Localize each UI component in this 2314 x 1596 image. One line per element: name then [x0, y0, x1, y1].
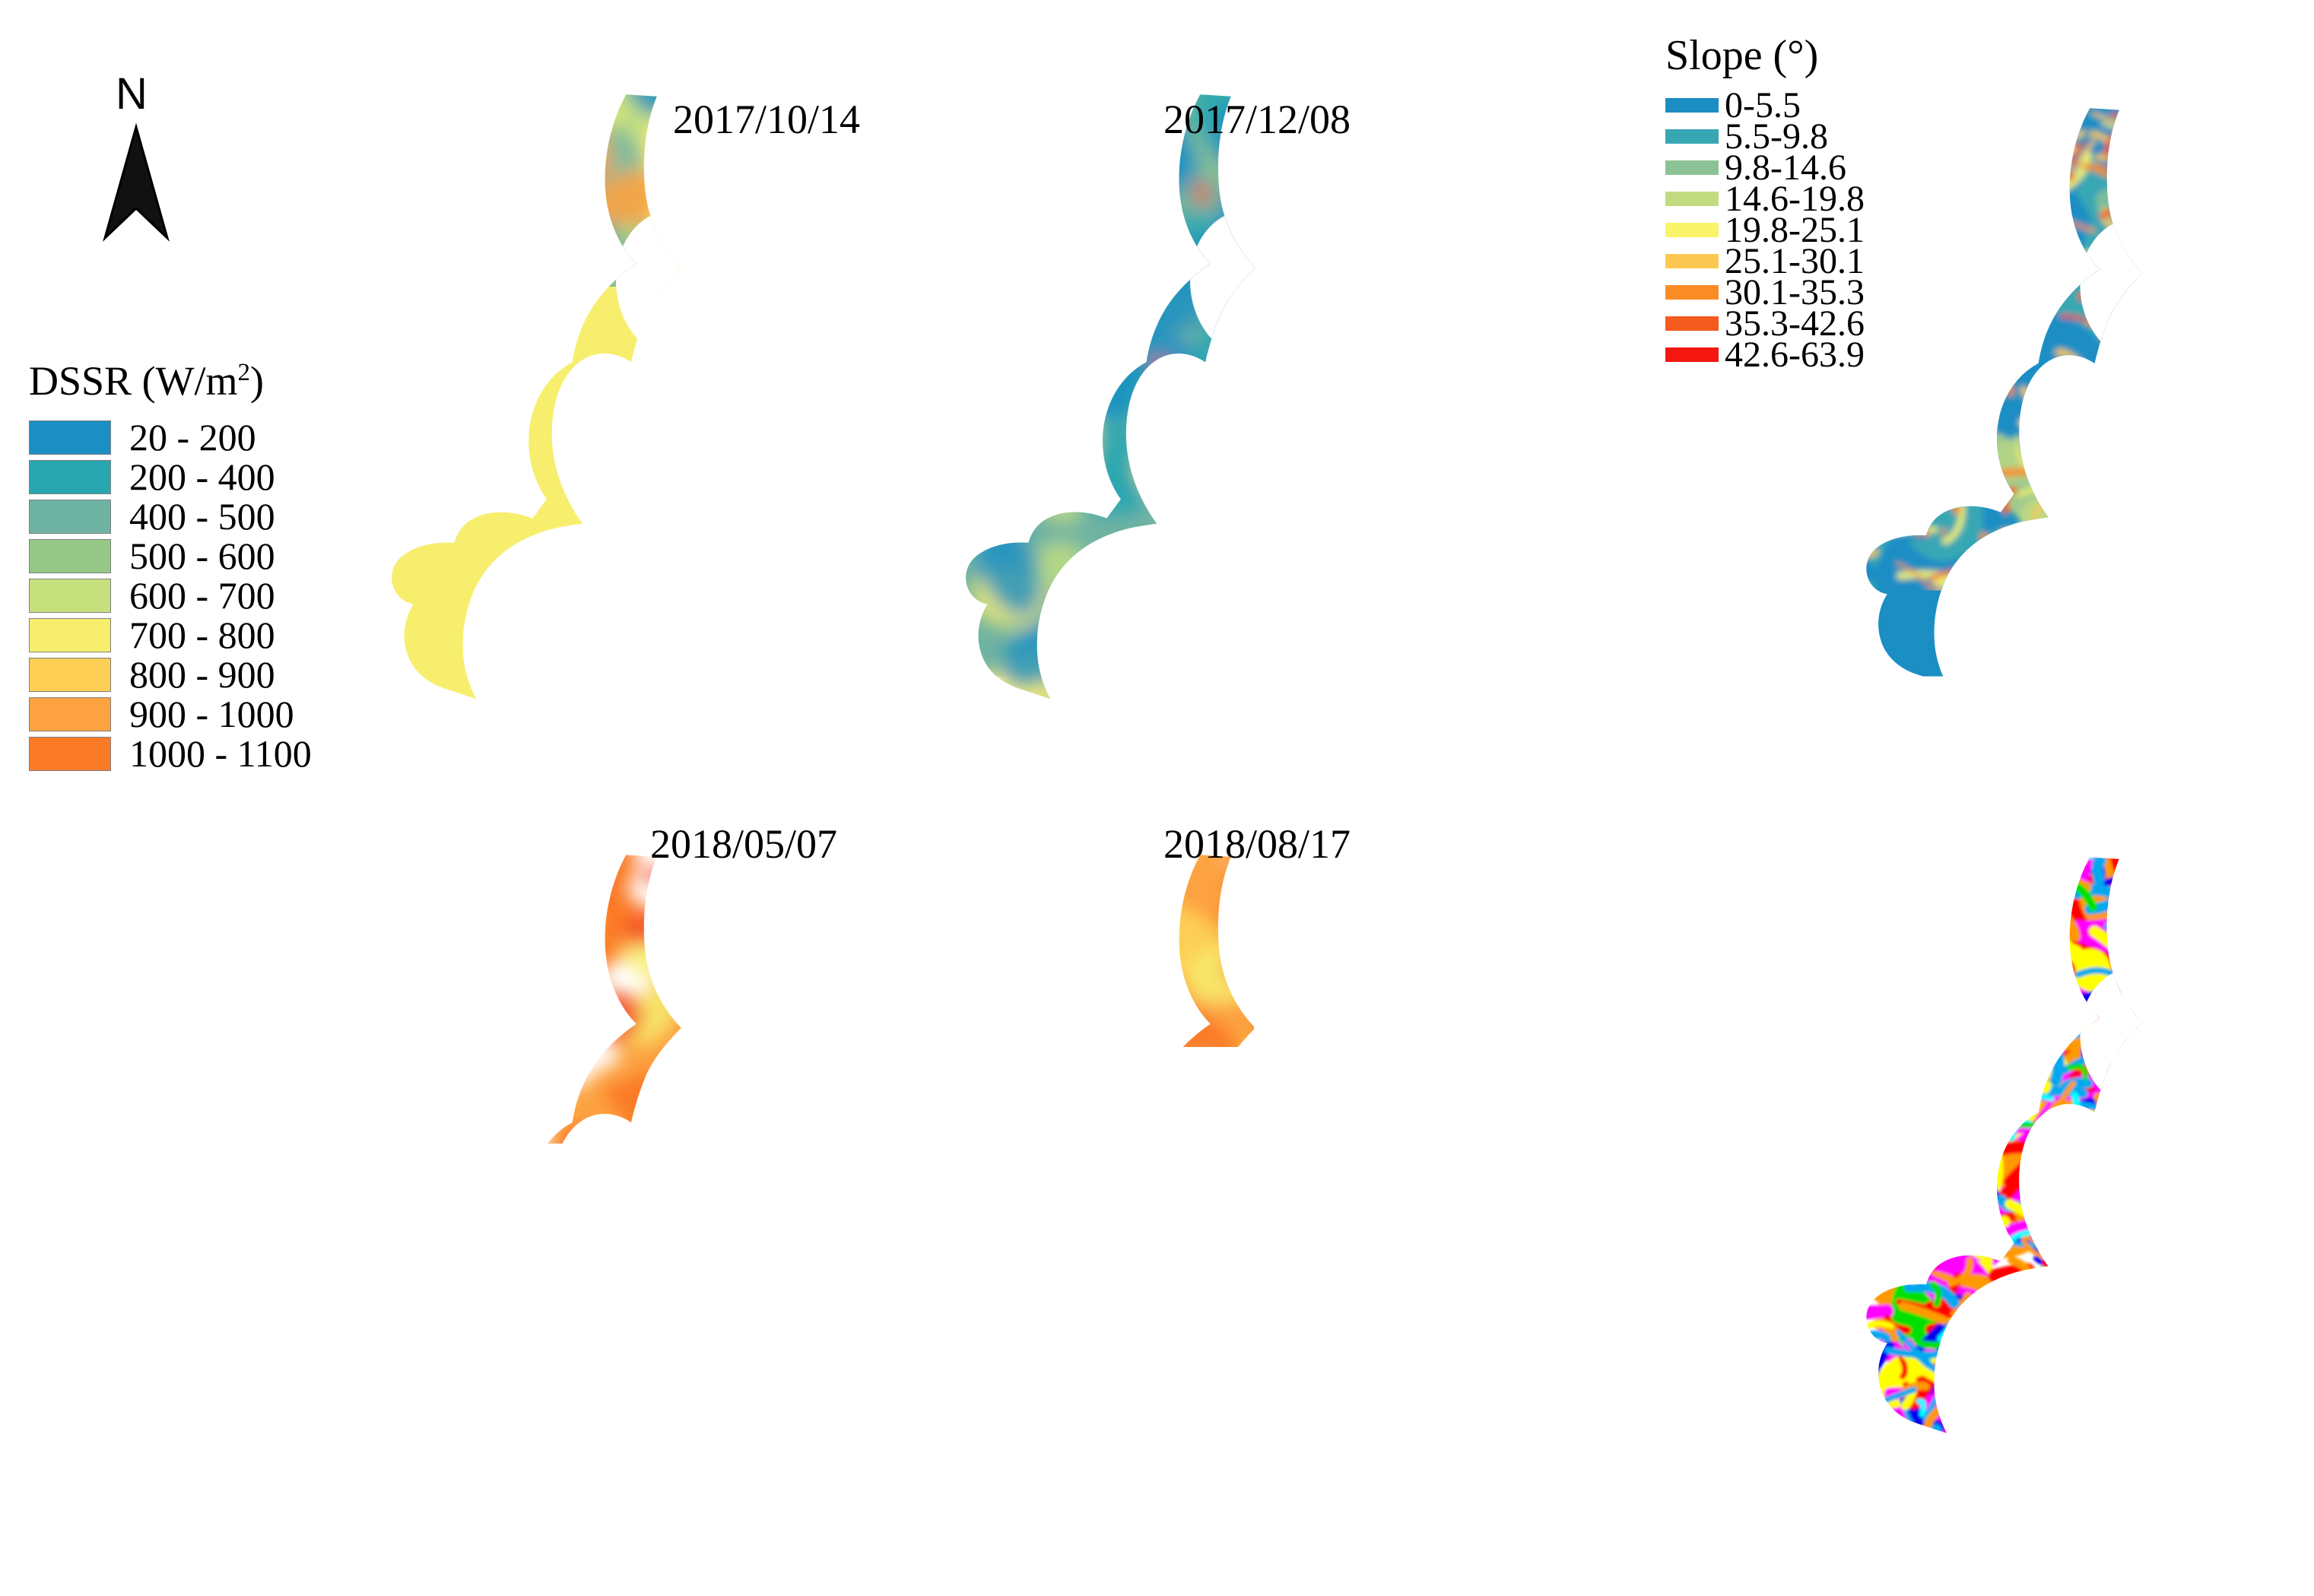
dssr-legend-item-row: 700 - 800 [29, 615, 386, 655]
dssr-legend-item-swatch [29, 658, 111, 692]
slope-legend-item-swatch [1665, 347, 1719, 362]
dssr-legend-item-swatch [29, 460, 111, 494]
dssr-legend-item-swatch [29, 539, 111, 573]
north-arrow: N [76, 72, 205, 247]
slope-map [1855, 11, 2314, 764]
date-label-2017-12-08: 2017/12/08 [1163, 99, 1351, 140]
dssr-legend-item-label: 500 - 600 [129, 537, 275, 575]
aspect-legend-item-swatch [1662, 931, 1716, 951]
date-label-2017-10-14: 2017/10/14 [673, 99, 860, 140]
aspect-legend-item-swatch [1662, 963, 1716, 982]
dssr-legend-item-label: 20 - 200 [129, 418, 256, 456]
dssr-legend-item-label: 900 - 1000 [129, 695, 294, 733]
slope-legend-item-label: 42.6-63.9 [1725, 337, 1865, 373]
dssr-map-2018-05-07 [380, 783, 867, 1513]
dssr-legend-item-swatch [29, 579, 111, 613]
scale-tick-3: 3 [227, 1072, 247, 1119]
aspect-legend-item-swatch [1662, 994, 1716, 1014]
dssr-legend-item-row: 1000 - 1100 [29, 734, 386, 773]
panel-label-b: (b) [1989, 1502, 2047, 1552]
dssr-legend-item-row: 200 - 400 [29, 457, 386, 497]
dssr-title-sup: 2 [238, 359, 251, 386]
dssr-legend-item-label: 1000 - 1100 [129, 735, 312, 773]
dssr-legend-item-label: 600 - 700 [129, 576, 275, 614]
aspect-legend-item-label: North [1724, 1079, 1809, 1115]
dssr-legend-item-row: 1300 - 1730 [29, 813, 386, 852]
slope-legend-item-swatch [1665, 192, 1719, 206]
scale-bar-row-top [49, 1122, 317, 1135]
aspect-legend-item-swatch [1662, 1025, 1716, 1045]
date-label-2018-08-17: 2018/08/17 [1163, 823, 1351, 865]
dssr-legend-item-row: 400 - 500 [29, 497, 386, 536]
dssr-legend-item-row: 600 - 700 [29, 576, 386, 615]
scale-bar-ticks: 0.5 1 2 3 4 [34, 1072, 414, 1119]
scale-tick-1: 1 [101, 1072, 122, 1119]
slope-legend-item-swatch [1665, 129, 1719, 144]
dssr-legend-item-row: 800 - 900 [29, 655, 386, 694]
panel-label-a: (a) [776, 1502, 831, 1552]
slope-legend-item-swatch [1665, 254, 1719, 268]
dssr-legend-item-swatch [29, 737, 111, 771]
aspect-map [1855, 760, 2314, 1513]
dssr-legend-item-row: 900 - 1000 [29, 694, 386, 734]
dssr-map-2018-08-17 [954, 783, 1441, 1513]
dssr-legend-item-label: 700 - 800 [129, 616, 275, 654]
aspect-legend-item-swatch [1662, 1056, 1716, 1076]
dssr-legend-item-label: 1100 - 1300 [129, 774, 312, 812]
dssr-title-main: DSSR (W/m [29, 358, 238, 404]
north-arrow-icon [94, 122, 178, 244]
dssr-legend-item-swatch [29, 618, 111, 652]
dssr-legend-item-label: 1300 - 1730 [129, 814, 313, 852]
dssr-legend-item-swatch [29, 697, 111, 731]
aspect-legend-item-swatch [1662, 1087, 1716, 1107]
scale-bar-graphic [47, 1121, 319, 1150]
scale-tick-2: 2 [162, 1072, 183, 1119]
scale-tick-0: 0.5 [34, 1072, 86, 1119]
dssr-legend-item-row: 20 - 200 [29, 417, 386, 457]
scale-bar-unit: Km [331, 1131, 388, 1176]
slope-legend-item-swatch [1665, 98, 1719, 113]
slope-legend-item-swatch [1665, 160, 1719, 175]
date-label-2018-05-07: 2018/05/07 [650, 823, 837, 865]
scale-tick-4: 4 [291, 1072, 312, 1119]
dssr-legend-item-label: 200 - 400 [129, 458, 275, 496]
dssr-legend-item-label: 400 - 500 [129, 497, 275, 535]
dssr-legend-item-swatch [29, 816, 111, 850]
aspect-legend-item-swatch [1662, 838, 1716, 858]
dssr-legend-item-row: 1100 - 1300 [29, 773, 386, 813]
slope-legend-item-swatch [1665, 285, 1719, 300]
scale-bar-row-bottom [49, 1135, 317, 1148]
slope-legend-item-swatch [1665, 223, 1719, 237]
slope-legend-item-swatch [1665, 316, 1719, 331]
dssr-legend-item-swatch [29, 420, 111, 455]
dssr-legend-item-row: 500 - 600 [29, 536, 386, 576]
north-arrow-label: N [116, 72, 148, 116]
dssr-legend-title: DSSR (W/m2) [29, 350, 386, 404]
dssr-legend-item-swatch [29, 776, 111, 811]
aspect-legend-item-swatch [1662, 900, 1716, 920]
dssr-legend-item-label: 800 - 900 [129, 655, 275, 693]
dssr-legend-item-swatch [29, 500, 111, 534]
dssr-legend: DSSR (W/m2) 20 - 200200 - 400400 - 50050… [29, 350, 386, 852]
scale-bar: 0.5 1 2 3 4 Km [34, 1072, 414, 1186]
dssr-title-end: ) [250, 358, 264, 404]
aspect-legend-item-swatch [1662, 869, 1716, 889]
